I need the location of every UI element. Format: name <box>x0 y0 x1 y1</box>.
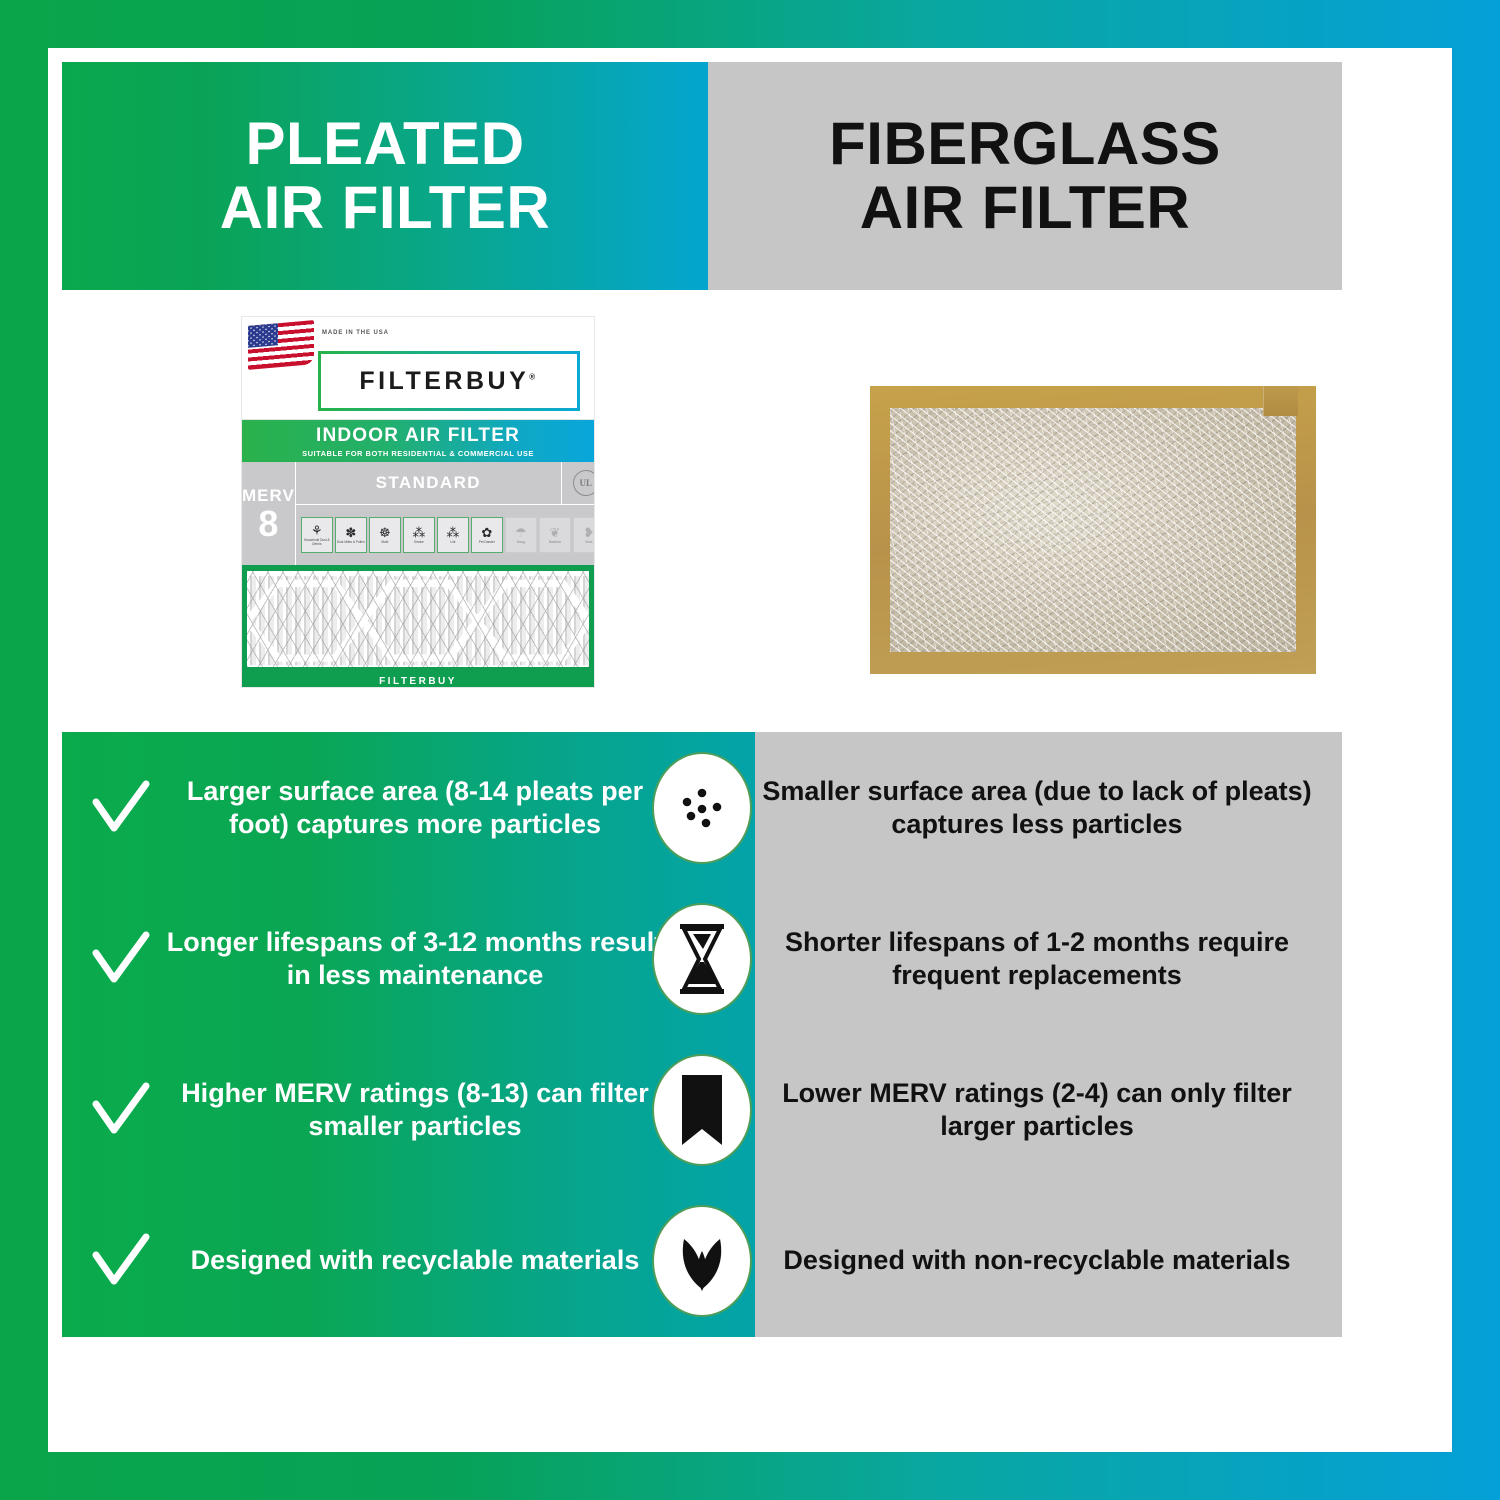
capability-caption: Virus <box>585 541 592 545</box>
brand-name: FILTERBUY® <box>359 367 538 396</box>
grade-row: STANDARD UL <box>296 462 594 505</box>
header-fiberglass: FIBERGLASS AIR FILTER <box>708 62 1342 290</box>
pleated-benefit-cell: Designed with recyclable materials <box>62 1233 672 1289</box>
brand-logo-box: FILTERBUY® <box>318 351 580 411</box>
package-footer-brand: FILTERBUY <box>242 676 594 687</box>
header-band: PLEATED AIR FILTER FIBERGLASS AIR FILTER <box>62 62 1342 290</box>
fiberglass-drawback-cell: Smaller surface area (due to lack of ple… <box>732 775 1342 840</box>
outer-gradient-frame: PLEATED AIR FILTER FIBERGLASS AIR FILTER… <box>0 0 1500 1500</box>
capability-caption: Smoke <box>414 541 424 545</box>
comparison-row: Longer lifespans of 3-12 months result i… <box>62 883 1342 1034</box>
usa-flag-icon <box>248 320 314 370</box>
pleated-benefit-cell: Larger surface area (8-14 pleats per foo… <box>62 775 672 840</box>
particles-icon <box>652 752 752 864</box>
header-pleated-title: PLEATED AIR FILTER <box>220 112 551 239</box>
merv-grade-panel: MERV 8 STANDARD UL ⚘Household Dust & Deb… <box>242 462 594 565</box>
grade-label: STANDARD <box>296 462 561 504</box>
capability-icon-2: ☸Mold <box>369 517 401 553</box>
comparison-rows: Larger surface area (8-14 pleats per foo… <box>62 732 1342 1337</box>
capability-icon-3: ⁂Smoke <box>403 517 435 553</box>
fiberglass-drawback-text: Smaller surface area (due to lack of ple… <box>758 775 1316 840</box>
capability-glyph: ☸ <box>379 526 391 539</box>
fiberglass-filter-image <box>870 386 1316 674</box>
checkmark-icon <box>84 931 158 987</box>
capability-icon-1: ✽Dust Mites & Pollen <box>335 517 367 553</box>
checkmark-icon <box>84 780 158 836</box>
capability-icon-7: ❦Bacteria <box>539 517 571 553</box>
capability-glyph: ⁂ <box>412 526 425 539</box>
capability-icon-0: ⚘Household Dust & Debris <box>301 517 333 553</box>
capability-glyph: ✿ <box>481 526 492 539</box>
merv-value: 8 <box>258 506 278 542</box>
leaf-icon <box>652 1205 752 1317</box>
merv-rating-cell: MERV 8 <box>242 462 296 565</box>
capability-caption: Pet Dander <box>479 541 495 545</box>
capability-glyph: ❦ <box>549 526 560 539</box>
capability-icon-6: ☂Smog <box>505 517 537 553</box>
product-images-row: MADE IN THE USA FILTERBUY® INDOOR AIR FI… <box>62 290 1342 730</box>
fiberglass-drawback-cell: Lower MERV ratings (2-4) can only filter… <box>732 1077 1342 1142</box>
fiberglass-drawback-cell: Shorter lifespans of 1-2 months require … <box>732 926 1342 991</box>
comparison-row: Designed with recyclable materialsDesign… <box>62 1185 1342 1336</box>
pleated-benefit-text: Longer lifespans of 3-12 months result i… <box>158 926 672 991</box>
fiberglass-drawback-text: Shorter lifespans of 1-2 months require … <box>758 926 1316 991</box>
capability-icon-8: ❥Virus <box>573 517 594 553</box>
capability-glyph: ✽ <box>345 526 356 539</box>
capability-icon-row: ⚘Household Dust & Debris✽Dust Mites & Po… <box>296 505 594 565</box>
pleated-filter-package: MADE IN THE USA FILTERBUY® INDOOR AIR FI… <box>242 317 594 687</box>
support-wire-icon <box>247 571 589 667</box>
header-pleated: PLEATED AIR FILTER <box>62 62 708 290</box>
pleated-benefit-text: Larger surface area (8-14 pleats per foo… <box>158 775 672 840</box>
pleated-media-area: FILTERBUY <box>242 565 594 687</box>
comparison-row: Larger surface area (8-14 pleats per foo… <box>62 732 1342 883</box>
pleat-texture <box>247 571 589 667</box>
hourglass-icon <box>652 903 752 1015</box>
capability-glyph: ⚘ <box>311 524 323 537</box>
frame-corner-tab <box>1263 386 1298 416</box>
capability-icon-5: ✿Pet Dander <box>471 517 503 553</box>
capability-caption: Smog <box>517 541 525 545</box>
pleated-benefit-text: Higher MERV ratings (8-13) can filter sm… <box>158 1077 672 1142</box>
ul-icon: UL <box>573 470 594 496</box>
capability-caption: Mold <box>381 541 388 545</box>
capability-icon-4: ⁂Lint <box>437 517 469 553</box>
capability-caption: Lint <box>450 541 455 545</box>
pleated-benefit-cell: Longer lifespans of 3-12 months result i… <box>62 926 672 991</box>
band-subtitle: SUITABLE FOR BOTH RESIDENTIAL & COMMERCI… <box>302 449 534 458</box>
capability-glyph: ❥ <box>583 526 594 539</box>
checkmark-icon <box>84 1233 158 1289</box>
indoor-air-filter-band: INDOOR AIR FILTER SUITABLE FOR BOTH RESI… <box>242 420 594 462</box>
ul-certification-cell: UL <box>561 462 594 504</box>
capability-caption: Bacteria <box>549 541 561 545</box>
fiberglass-drawback-cell: Designed with non-recyclable materials <box>732 1244 1342 1276</box>
flag-canton <box>248 323 278 348</box>
package-top: MADE IN THE USA FILTERBUY® <box>242 317 594 420</box>
capability-caption: Dust Mites & Pollen <box>337 541 365 545</box>
fiberglass-drawback-text: Designed with non-recyclable materials <box>758 1244 1316 1276</box>
made-in-usa-label: MADE IN THE USA <box>322 329 389 338</box>
header-fiberglass-title: FIBERGLASS AIR FILTER <box>829 112 1221 239</box>
grade-and-icons: STANDARD UL ⚘Household Dust & Debris✽Dus… <box>296 462 594 565</box>
fiberglass-mesh <box>890 408 1296 652</box>
bottom-spacer <box>62 1337 1342 1452</box>
band-title: INDOOR AIR FILTER <box>316 425 520 447</box>
comparison-row: Higher MERV ratings (8-13) can filter sm… <box>62 1034 1342 1185</box>
capability-caption: Household Dust & Debris <box>302 539 332 547</box>
bookmark-icon <box>652 1054 752 1166</box>
checkmark-icon <box>84 1082 158 1138</box>
pleated-benefit-cell: Higher MERV ratings (8-13) can filter sm… <box>62 1077 672 1142</box>
capability-glyph: ☂ <box>515 526 527 539</box>
fiberglass-drawback-text: Lower MERV ratings (2-4) can only filter… <box>758 1077 1316 1142</box>
capability-glyph: ⁂ <box>446 526 459 539</box>
pleated-benefit-text: Designed with recyclable materials <box>158 1244 672 1276</box>
